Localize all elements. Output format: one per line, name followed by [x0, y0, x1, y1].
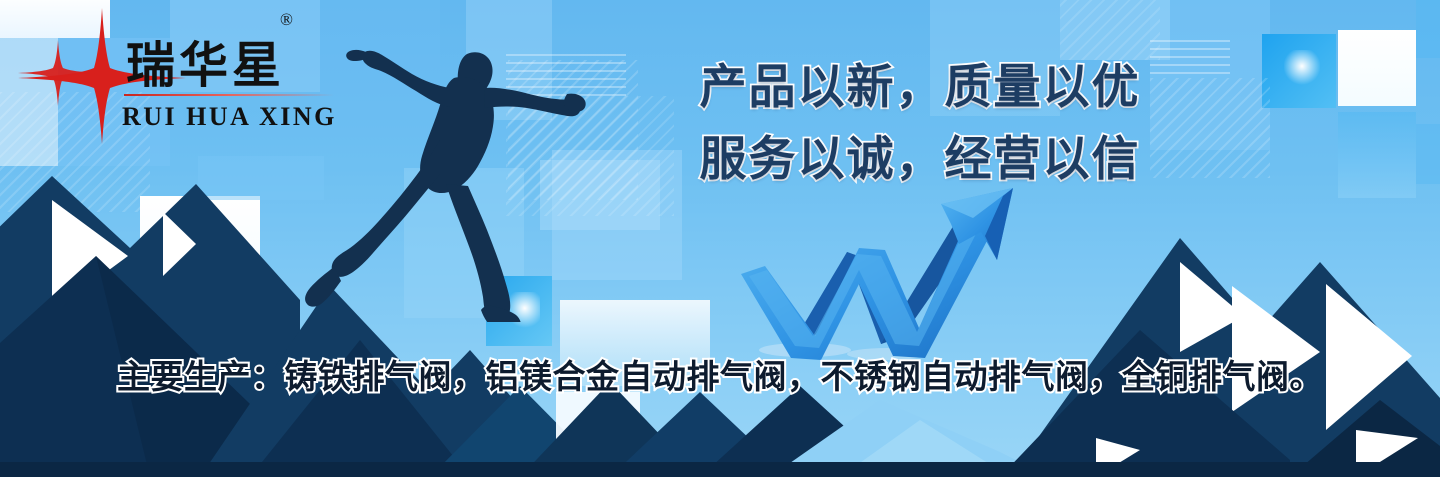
logo-divider: [124, 94, 334, 96]
bottom-dark-band: [0, 462, 1440, 477]
registered-trademark-icon: ®: [280, 10, 293, 30]
company-logo[interactable]: 瑞华星 ® RUI HUA XING: [18, 6, 338, 146]
company-banner: 瑞华星 ® RUI HUA XING 产品以新，质量以优 服务以诚，经营以信 主…: [0, 0, 1440, 477]
slogan-block: 产品以新，质量以优 服务以诚，经营以信: [660, 52, 1180, 196]
logo-chinese-name: 瑞华星: [126, 26, 285, 97]
slogan-line-1: 产品以新，质量以优: [660, 52, 1180, 124]
product-line-text: 主要生产：铸铁排气阀，铝镁合金自动排气阀，不锈钢自动排气阀，全铜排气阀。: [0, 350, 1440, 398]
logo-english-name: RUI HUA XING: [122, 102, 337, 132]
slogan-line-2: 服务以诚，经营以信: [660, 124, 1180, 196]
